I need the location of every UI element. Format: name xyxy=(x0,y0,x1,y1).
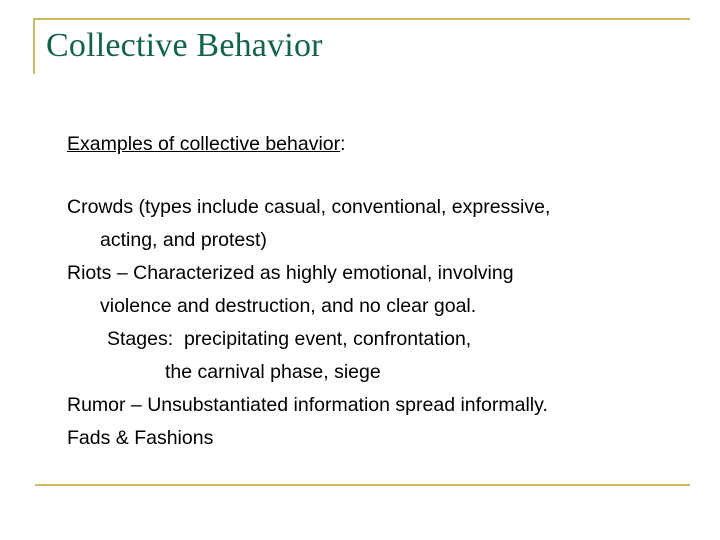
slide-title: Collective Behavior xyxy=(46,25,686,67)
body-heading-underlined: Examples of collective behavior xyxy=(67,133,340,155)
body-line-stages-cont: the carnival phase, siege xyxy=(67,356,687,389)
body-line-crowds: Crowds (types include casual, convention… xyxy=(67,191,687,224)
body-heading-colon: : xyxy=(340,133,345,155)
slide-canvas: Collective Behavior Examples of collecti… xyxy=(0,0,720,540)
body-line-stages: Stages: precipitating event, confrontati… xyxy=(67,323,687,356)
title-top-rule xyxy=(33,18,690,20)
body-line-rumor: Rumor – Unsubstantiated information spre… xyxy=(67,389,687,422)
body-line-crowds-cont: acting, and protest) xyxy=(67,224,687,257)
body-line-riots-cont: violence and destruction, and no clear g… xyxy=(67,290,687,323)
body-line-fads: Fads & Fashions xyxy=(67,422,687,455)
title-left-rule xyxy=(33,18,35,74)
body-heading: Examples of collective behavior: xyxy=(67,128,687,161)
footer-rule xyxy=(35,484,690,486)
body-line-riots: Riots – Characterized as highly emotiona… xyxy=(67,257,687,290)
slide-body: Examples of collective behavior: Crowds … xyxy=(67,128,687,455)
